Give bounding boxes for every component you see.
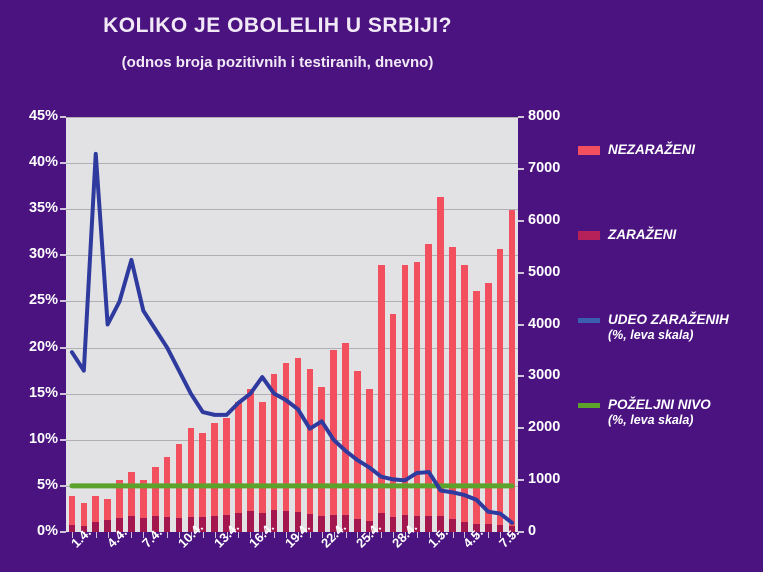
y-axis-left-tick	[60, 254, 66, 256]
y-axis-left-tick-label: 0%	[6, 523, 58, 539]
legend-label: NEZARAŽENI	[608, 142, 695, 158]
y-axis-left-tick	[60, 393, 66, 395]
line-udeo-zarazenih	[72, 154, 512, 523]
y-axis-right-tick-label: 5000	[528, 264, 588, 280]
legend-sublabel: (%, leva skala)	[608, 413, 711, 428]
chart-container: KOLIKO JE OBOLELIH U SRBIJI? (odnos broj…	[0, 0, 763, 572]
y-axis-left-tick	[60, 439, 66, 441]
y-axis-left-tick-label: 20%	[6, 339, 58, 355]
y-axis-right-tick-label: 1000	[528, 471, 588, 487]
legend-swatch-icon	[578, 403, 600, 408]
y-axis-right-tick	[518, 116, 524, 118]
y-axis-right-tick	[518, 220, 524, 222]
y-axis-right-tick	[518, 168, 524, 170]
x-axis-tick	[381, 532, 382, 538]
y-axis-left-tick-label: 35%	[6, 200, 58, 216]
y-axis-left-tick	[60, 116, 66, 118]
legend-item[interactable]: ZARAŽENI	[578, 227, 676, 243]
legend-item[interactable]: NEZARAŽENI	[578, 142, 695, 158]
y-axis-right-tick-label: 3000	[528, 367, 588, 383]
y-axis-left-tick-label: 30%	[6, 246, 58, 262]
y-axis-right-tick-label: 0	[528, 523, 588, 539]
plot-area	[66, 117, 518, 532]
legend-swatch-icon	[578, 318, 600, 323]
y-axis-right-tick-label: 8000	[528, 108, 588, 124]
legend-swatch-icon	[578, 231, 600, 240]
x-axis-tick	[131, 532, 132, 538]
y-axis-left-tick	[60, 531, 66, 533]
chart-subtitle: (odnos broja pozitivnih i testiranih, dn…	[0, 54, 555, 71]
y-axis-right-tick	[518, 375, 524, 377]
y-axis-left-tick-label: 15%	[6, 385, 58, 401]
y-axis-left-tick-label: 5%	[6, 477, 58, 493]
legend-item[interactable]: POŽELJNI NIVO(%, leva skala)	[578, 397, 711, 428]
legend-label: UDEO ZARAŽENIH(%, leva skala)	[608, 312, 729, 343]
y-axis-right-tick-label: 7000	[528, 160, 588, 176]
line-series-group	[66, 117, 518, 532]
y-axis-left-tick	[60, 485, 66, 487]
y-axis-left-tick	[60, 208, 66, 210]
x-axis-tick	[96, 532, 97, 538]
y-axis-right-tick	[518, 272, 524, 274]
y-axis-left-tick-label: 25%	[6, 292, 58, 308]
y-axis-left-tick	[60, 162, 66, 164]
y-axis-left-tick-label: 10%	[6, 431, 58, 447]
y-axis-left-tick-label: 45%	[6, 108, 58, 124]
y-axis-right-tick-label: 6000	[528, 212, 588, 228]
x-axis-tick	[453, 532, 454, 538]
legend-swatch-icon	[578, 146, 600, 155]
y-axis-left-tick-label: 40%	[6, 154, 58, 170]
x-axis-tick	[167, 532, 168, 538]
chart-title: KOLIKO JE OBOLELIH U SRBIJI?	[0, 14, 555, 38]
legend-label: ZARAŽENI	[608, 227, 676, 243]
legend-sublabel: (%, leva skala)	[608, 328, 729, 343]
y-axis-left-tick	[60, 300, 66, 302]
y-axis-right-tick	[518, 427, 524, 429]
y-axis-right-tick	[518, 324, 524, 326]
y-axis-right-tick	[518, 479, 524, 481]
legend-label: POŽELJNI NIVO(%, leva skala)	[608, 397, 711, 428]
x-axis-tick	[488, 532, 489, 538]
legend-item[interactable]: UDEO ZARAŽENIH(%, leva skala)	[578, 312, 729, 343]
y-axis-left-tick	[60, 347, 66, 349]
